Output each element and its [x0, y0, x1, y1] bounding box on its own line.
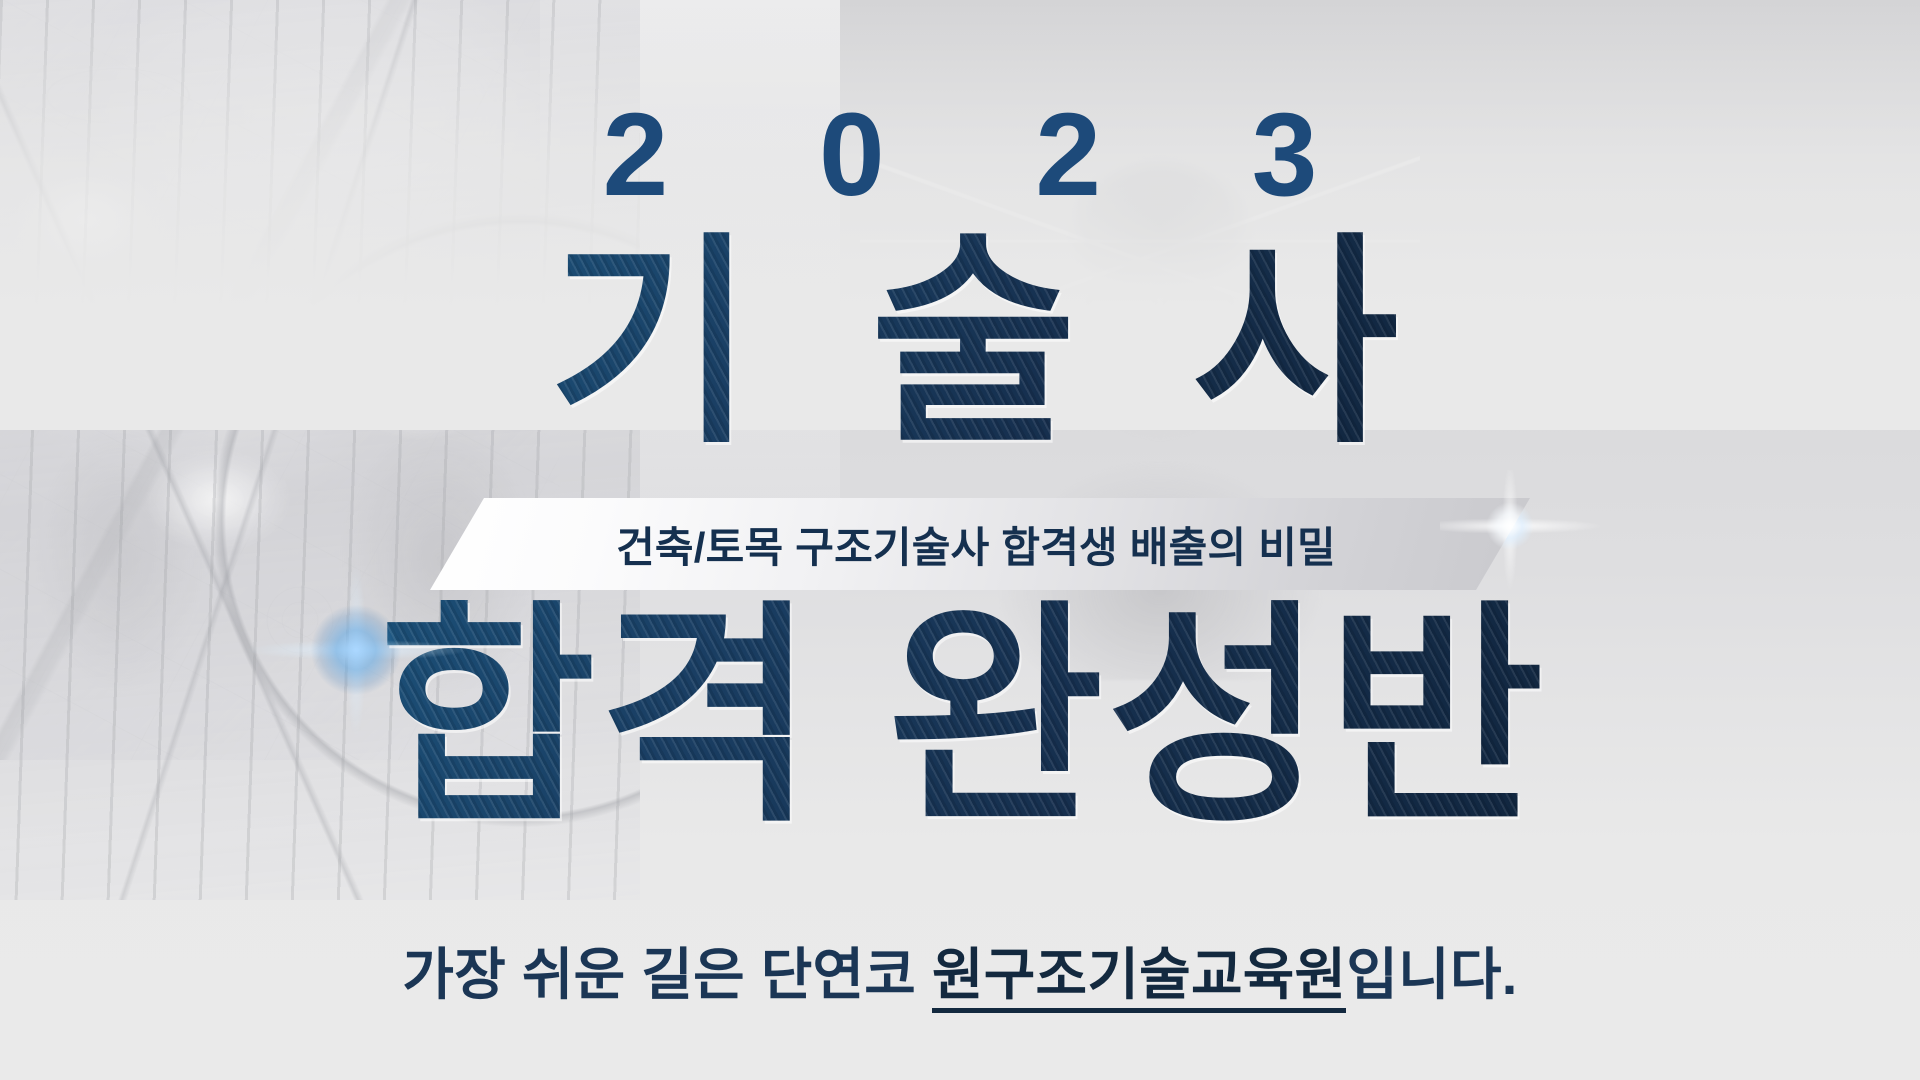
- subtitle-ribbon-text: 건축/토목 구조기술사 합격생 배출의 비밀: [616, 514, 1336, 575]
- tagline: 가장 쉬운 길은 단연코 원구조기술교육원입니다.: [0, 930, 1920, 1011]
- promo-banner: 2 0 2 3 기 술 사 합격 완성반 건축/토목 구조기술사 합격생 배출의…: [0, 0, 1920, 1080]
- subtitle-ribbon: 건축/토목 구조기술사 합격생 배출의 비밀: [430, 498, 1530, 590]
- tagline-suffix: 입니다.: [1346, 943, 1517, 1006]
- banner-content: 2 0 2 3 기 술 사 합격 완성반 건축/토목 구조기술사 합격생 배출의…: [0, 0, 1920, 1080]
- headline-line-2: 합격 완성반: [0, 600, 1920, 836]
- tagline-brand-name: 원구조기술교육원: [932, 943, 1346, 1013]
- headline-line-1-text: 기 술 사: [521, 232, 1425, 456]
- headline-line-2-text: 합격 완성반: [376, 600, 1547, 836]
- headline-line-1: 기 술 사: [0, 232, 1920, 456]
- year-label: 2 0 2 3: [0, 96, 1920, 214]
- tagline-prefix: 가장 쉬운 길은 단연코: [402, 943, 932, 1006]
